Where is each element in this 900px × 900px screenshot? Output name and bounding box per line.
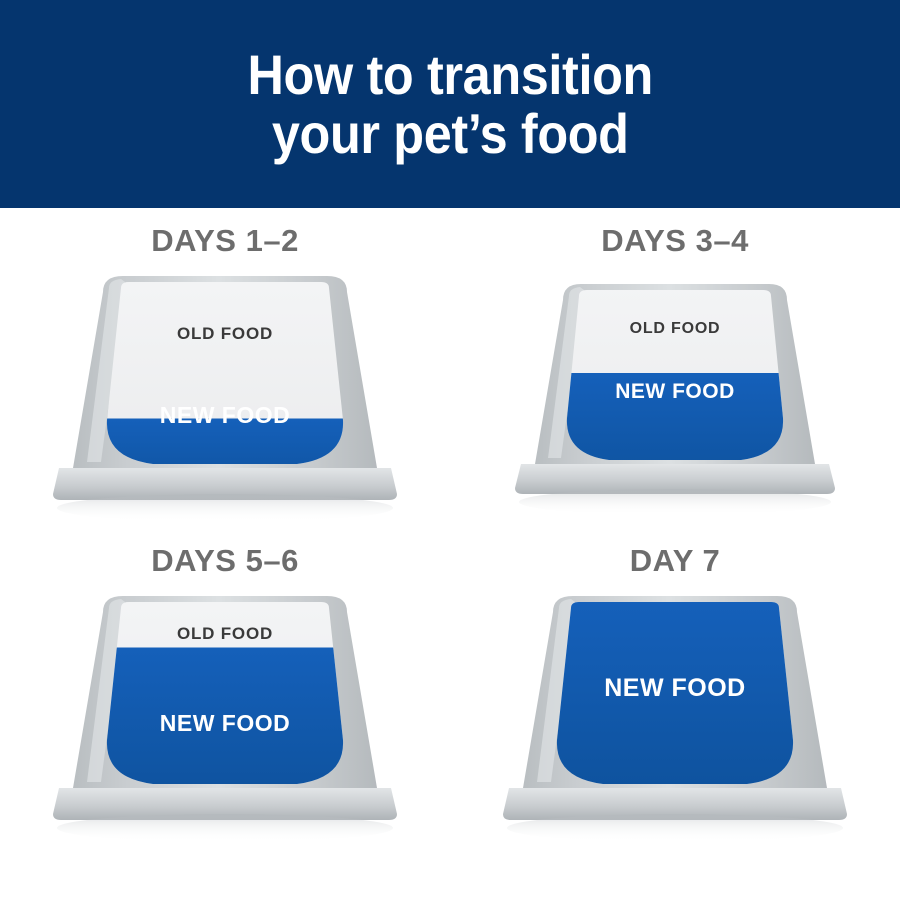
- bowl-illustration-day-7: NEW FOOD: [475, 582, 875, 852]
- bowl-svg: [475, 582, 875, 852]
- bowl-svg: [475, 262, 875, 532]
- bowl-reflection: [57, 494, 393, 522]
- page-title: How to transition your pet’s food: [220, 45, 679, 164]
- header-banner: How to transition your pet’s food: [0, 0, 900, 208]
- panel-title-days-5-6: DAYS 5–6: [151, 540, 299, 582]
- panel-title-days-3-4: DAYS 3–4: [601, 220, 749, 262]
- panel-days-3-4: DAYS 3–4: [450, 208, 900, 554]
- bowl-reflection: [519, 489, 831, 515]
- bowl-reflection: [507, 814, 843, 842]
- panel-days-1-2: DAYS 1–2: [0, 208, 450, 554]
- bowl-svg: [25, 262, 425, 532]
- bowl-svg: [25, 582, 425, 852]
- panel-title-days-1-2: DAYS 1–2: [151, 220, 299, 262]
- bowl-reflection: [57, 814, 393, 842]
- panel-title-day-7: DAY 7: [630, 540, 720, 582]
- panel-day-7: DAY 7: [450, 528, 900, 874]
- bowl-illustration-days-1-2: OLD FOOD NEW FOOD: [25, 262, 425, 532]
- bowl-illustration-days-5-6: OLD FOOD NEW FOOD: [25, 582, 425, 852]
- bowl-illustration-days-3-4: OLD FOOD NEW FOOD: [475, 262, 875, 532]
- transition-panels-grid: DAYS 1–2: [0, 208, 900, 900]
- panel-days-5-6: DAYS 5–6: [0, 528, 450, 874]
